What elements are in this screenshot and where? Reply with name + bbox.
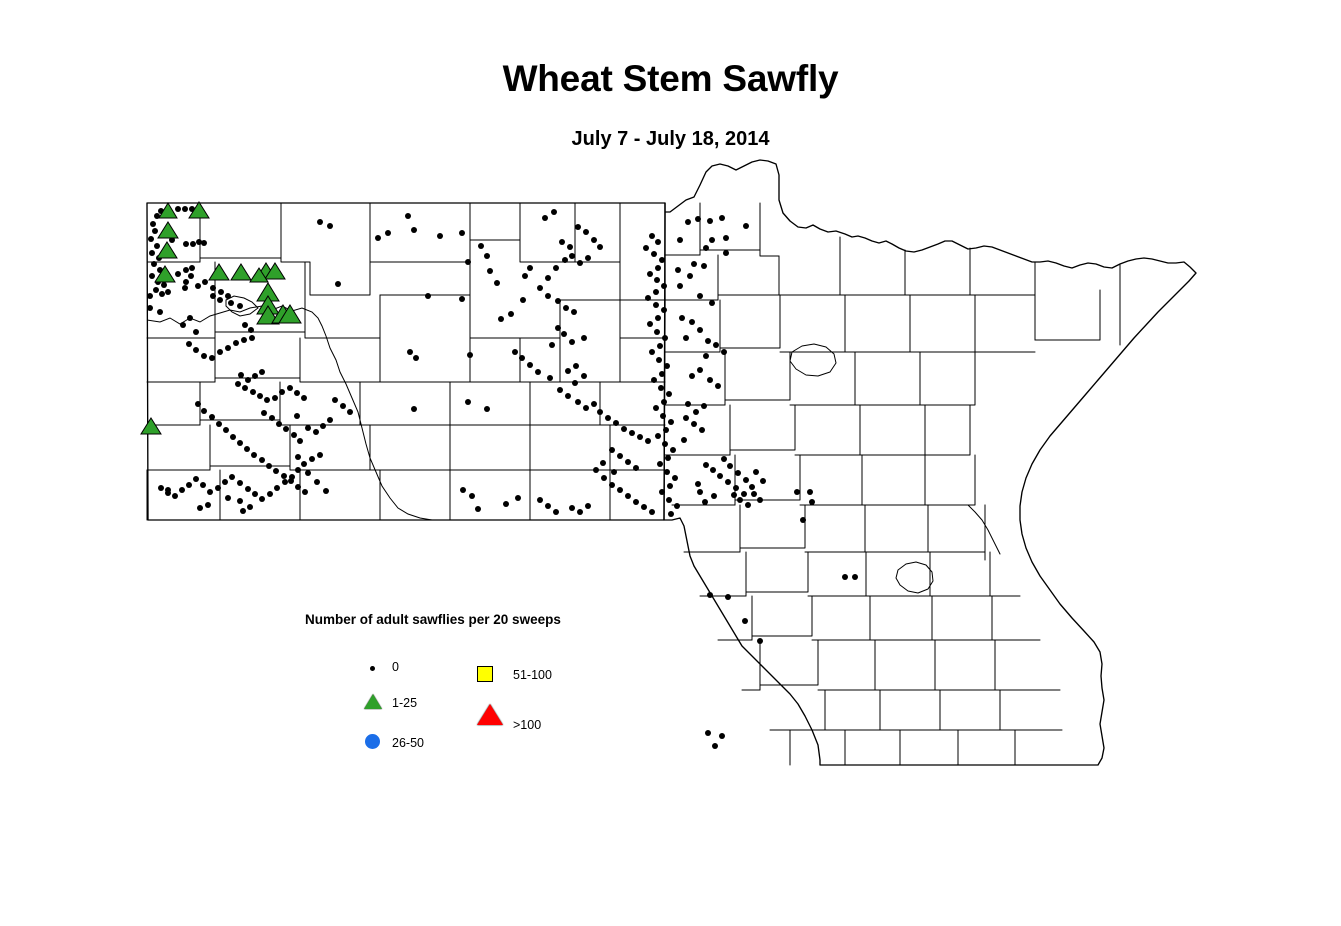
- state-county-map: [0, 0, 1341, 926]
- map-canvas: [0, 0, 1341, 926]
- legend-symbol-blue-circle: [365, 734, 380, 749]
- north-dakota-counties: [147, 203, 665, 520]
- legend-label-over-100: >100: [513, 718, 541, 732]
- legend-symbol-yellow-square: [477, 666, 493, 682]
- legend-symbol-red-triangle: [477, 704, 503, 725]
- legend-symbol-dot: [370, 666, 375, 671]
- legend-title: Number of adult sawflies per 20 sweeps: [305, 612, 561, 627]
- minnesota-counties: [664, 160, 1196, 765]
- map-figure: Wheat Stem Sawfly July 7 - July 18, 2014: [0, 0, 1341, 926]
- map-legend: Number of adult sawflies per 20 sweeps 0…: [300, 606, 660, 766]
- legend-label-51-100: 51-100: [513, 668, 552, 682]
- legend-label-0: 0: [392, 660, 399, 674]
- legend-label-1-25: 1-25: [392, 696, 417, 710]
- legend-symbol-green-triangle: [364, 694, 382, 709]
- legend-label-26-50: 26-50: [392, 736, 424, 750]
